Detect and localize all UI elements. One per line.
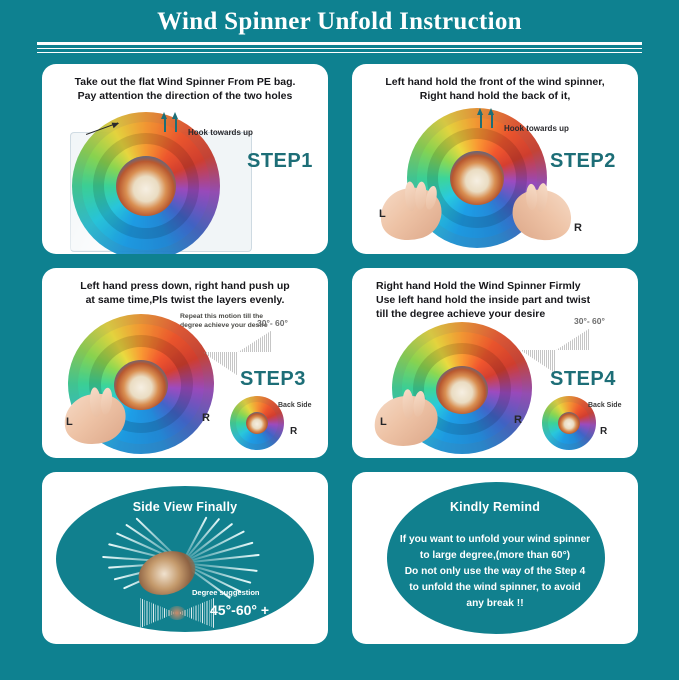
instruction-poster: Wind Spinner Unfold Instruction Take out… [0, 0, 679, 680]
panel-side-view: Side View Finally [42, 472, 328, 644]
step1-label: STEP1 [247, 150, 313, 173]
left-hand-label: L [380, 416, 387, 428]
degree-bowtie-graphic [140, 598, 214, 628]
panel-step1-heading: Take out the flat Wind Spinner From PE b… [42, 64, 328, 103]
left-hand-label: L [66, 416, 73, 428]
back-side-hand-label: R [600, 426, 607, 437]
degree-suggestion-value: 45°-60° + [210, 602, 269, 618]
step3-label: STEP3 [240, 368, 306, 391]
kindly-remind-title: Kindly Remind [352, 500, 638, 514]
panel-kindly-remind: Kindly Remind If you want to unfold your… [352, 472, 638, 644]
panel-step3-heading: Left hand press down, right hand push up… [42, 268, 328, 307]
hook-towards-up-label: Hook towards up [504, 124, 569, 133]
right-hand-label: R [574, 222, 582, 234]
kindly-remind-body: If you want to unfold your wind spinner … [352, 532, 638, 612]
back-side-spinner-inset [230, 396, 284, 450]
degree-suggestion-label: Degree suggestion [192, 588, 260, 597]
title-divider [37, 42, 642, 53]
back-side-label: Back Side [588, 402, 621, 409]
panel-step2: Left hand hold the front of the wind spi… [352, 64, 638, 254]
back-side-hand-label: R [290, 426, 297, 437]
panel-step1: Take out the flat Wind Spinner From PE b… [42, 64, 328, 254]
panel-step4: Right hand Hold the Wind Spinner Firmly … [352, 268, 638, 458]
panel-step4-heading: Right hand Hold the Wind Spinner Firmly … [352, 268, 638, 321]
side-view-title: Side View Finally [42, 500, 328, 514]
right-hand-label: R [514, 414, 522, 426]
degree-range-label: 30°- 60° [574, 316, 605, 326]
right-hand-label: R [202, 412, 210, 424]
degree-range-label: 30°- 60° [257, 318, 288, 328]
panel-step2-heading: Left hand hold the front of the wind spi… [352, 64, 638, 103]
hook-towards-up-label: Hook towards up [188, 128, 253, 137]
repeat-motion-note: Repeat this motion till the degree achie… [180, 312, 268, 330]
step2-label: STEP2 [550, 150, 616, 173]
page-title: Wind Spinner Unfold Instruction [0, 8, 679, 36]
step4-label: STEP4 [550, 368, 616, 391]
panel-step3: Left hand press down, right hand push up… [42, 268, 328, 458]
left-hand-label: L [379, 208, 386, 220]
back-side-label: Back Side [278, 402, 311, 409]
